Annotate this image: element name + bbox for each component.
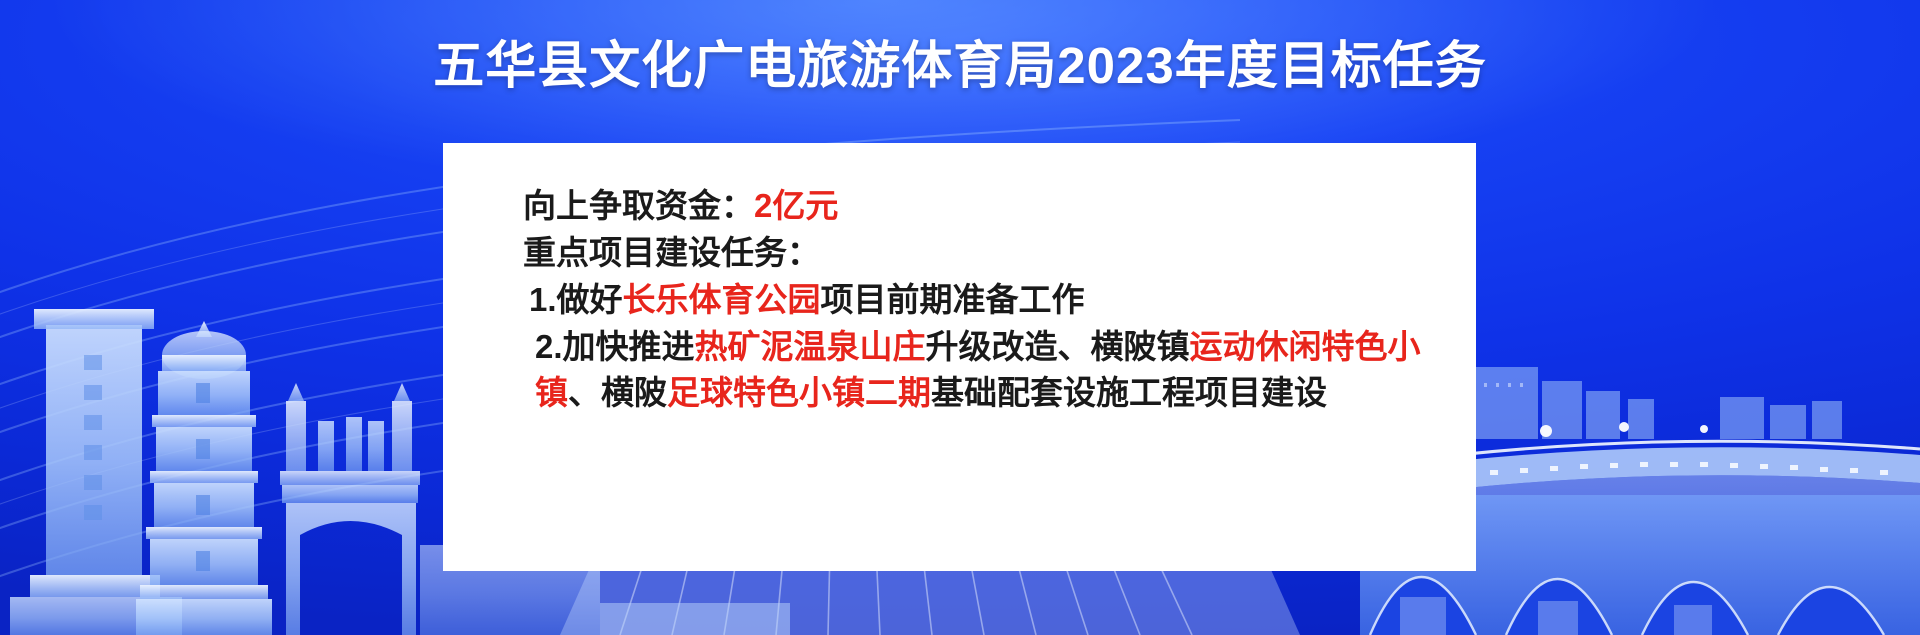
card-line-key-projects-heading: 重点项目建设任务： <box>479 230 1440 277</box>
text-segment-plain: 、横陂 <box>568 374 667 411</box>
text-segment-plain: 重点项目建设任务： <box>523 234 820 271</box>
content-card: 向上争取资金：2亿元重点项目建设任务：1.做好长乐体育公园项目前期准备工作2.加… <box>443 143 1476 571</box>
banner-image: 五华县文化广电旅游体育局2023年度目标任务 向上争取资金：2亿元重点项目建设任… <box>0 0 1920 635</box>
text-segment-plain: 2.加快推进 <box>535 328 695 365</box>
text-segment-plain: 基础配套设施工程项目建设 <box>931 374 1327 411</box>
text-segment-highlight: 长乐体育公园 <box>623 281 821 318</box>
page-title: 五华县文化广电旅游体育局2023年度目标任务 <box>0 36 1920 96</box>
text-segment-plain: 向上争取资金： <box>523 187 754 224</box>
card-body: 向上争取资金：2亿元重点项目建设任务：1.做好长乐体育公园项目前期准备工作2.加… <box>479 183 1440 417</box>
text-segment-plain: 1.做好 <box>529 281 623 318</box>
text-segment-plain: 项目前期准备工作 <box>821 281 1085 318</box>
text-segment-plain: 升级改造、横陂镇 <box>926 328 1190 365</box>
text-segment-highlight: 足球特色小镇二期 <box>667 374 931 411</box>
card-line-funding: 向上争取资金：2亿元 <box>479 183 1440 230</box>
card-line-project-1: 1.做好长乐体育公园项目前期准备工作 <box>479 277 1440 324</box>
card-line-project-2: 2.加快推进热矿泥温泉山庄升级改造、横陂镇运动休闲特色小镇、横陂足球特色小镇二期… <box>479 324 1440 418</box>
text-segment-highlight: 2亿元 <box>754 187 838 224</box>
text-segment-highlight: 热矿泥温泉山庄 <box>695 328 926 365</box>
